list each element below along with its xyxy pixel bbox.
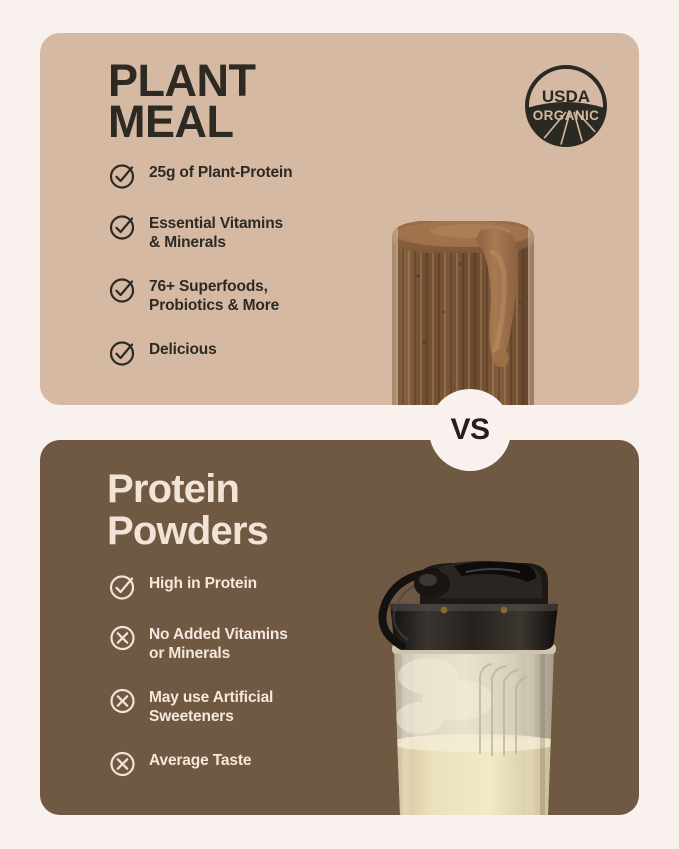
list-item: 25g of Plant-Protein xyxy=(108,161,368,190)
list-item: Delicious xyxy=(108,338,368,367)
usda-top-text: USDA xyxy=(542,87,590,106)
list-item-label: Average Taste xyxy=(149,749,251,771)
list-item-label: 25g of Plant-Protein xyxy=(149,161,292,183)
list-item: May use Artificial Sweeteners xyxy=(108,686,373,727)
plant-meal-title: PLANT MEAL xyxy=(108,60,256,143)
protein-powders-panel: Protein Powders High in Protein xyxy=(40,440,639,815)
list-item-label: May use Artificial Sweeteners xyxy=(149,686,273,727)
x-circle-icon xyxy=(108,623,137,652)
protein-powders-title: Protein Powders xyxy=(107,468,268,553)
check-circle-icon xyxy=(108,161,137,190)
list-item: No Added Vitamins or Minerals xyxy=(108,623,373,664)
check-circle-icon xyxy=(108,338,137,367)
check-circle-icon xyxy=(108,275,137,304)
infographic-canvas: PLANT MEAL USDA ORGANIC xyxy=(0,0,679,849)
list-item-label: Essential Vitamins & Minerals xyxy=(149,212,283,253)
check-circle-icon xyxy=(108,212,137,241)
usda-organic-seal: USDA ORGANIC xyxy=(520,60,612,152)
list-item: High in Protein xyxy=(108,572,373,601)
plant-meal-feature-list: 25g of Plant-Protein Essential Vitamins … xyxy=(108,161,368,367)
x-circle-icon xyxy=(108,686,137,715)
list-item: 76+ Superfoods, Probiotics & More xyxy=(108,275,368,316)
list-item-label: 76+ Superfoods, Probiotics & More xyxy=(149,275,279,316)
list-item-label: Delicious xyxy=(149,338,217,360)
chocolate-smoothie-glass-image xyxy=(352,190,574,405)
list-item: Essential Vitamins & Minerals xyxy=(108,212,368,253)
list-item: Average Taste xyxy=(108,749,373,778)
versus-badge: VS xyxy=(429,389,511,471)
usda-bottom-text: ORGANIC xyxy=(533,108,600,123)
check-circle-icon xyxy=(108,572,137,601)
plant-meal-panel: PLANT MEAL USDA ORGANIC xyxy=(40,33,639,405)
list-item-label: No Added Vitamins or Minerals xyxy=(149,623,288,664)
protein-shaker-bottle-image xyxy=(358,558,590,815)
x-circle-icon xyxy=(108,749,137,778)
protein-powders-feature-list: High in Protein No Added Vitamins or Min… xyxy=(108,572,373,778)
list-item-label: High in Protein xyxy=(149,572,257,594)
versus-label: VS xyxy=(450,413,489,447)
